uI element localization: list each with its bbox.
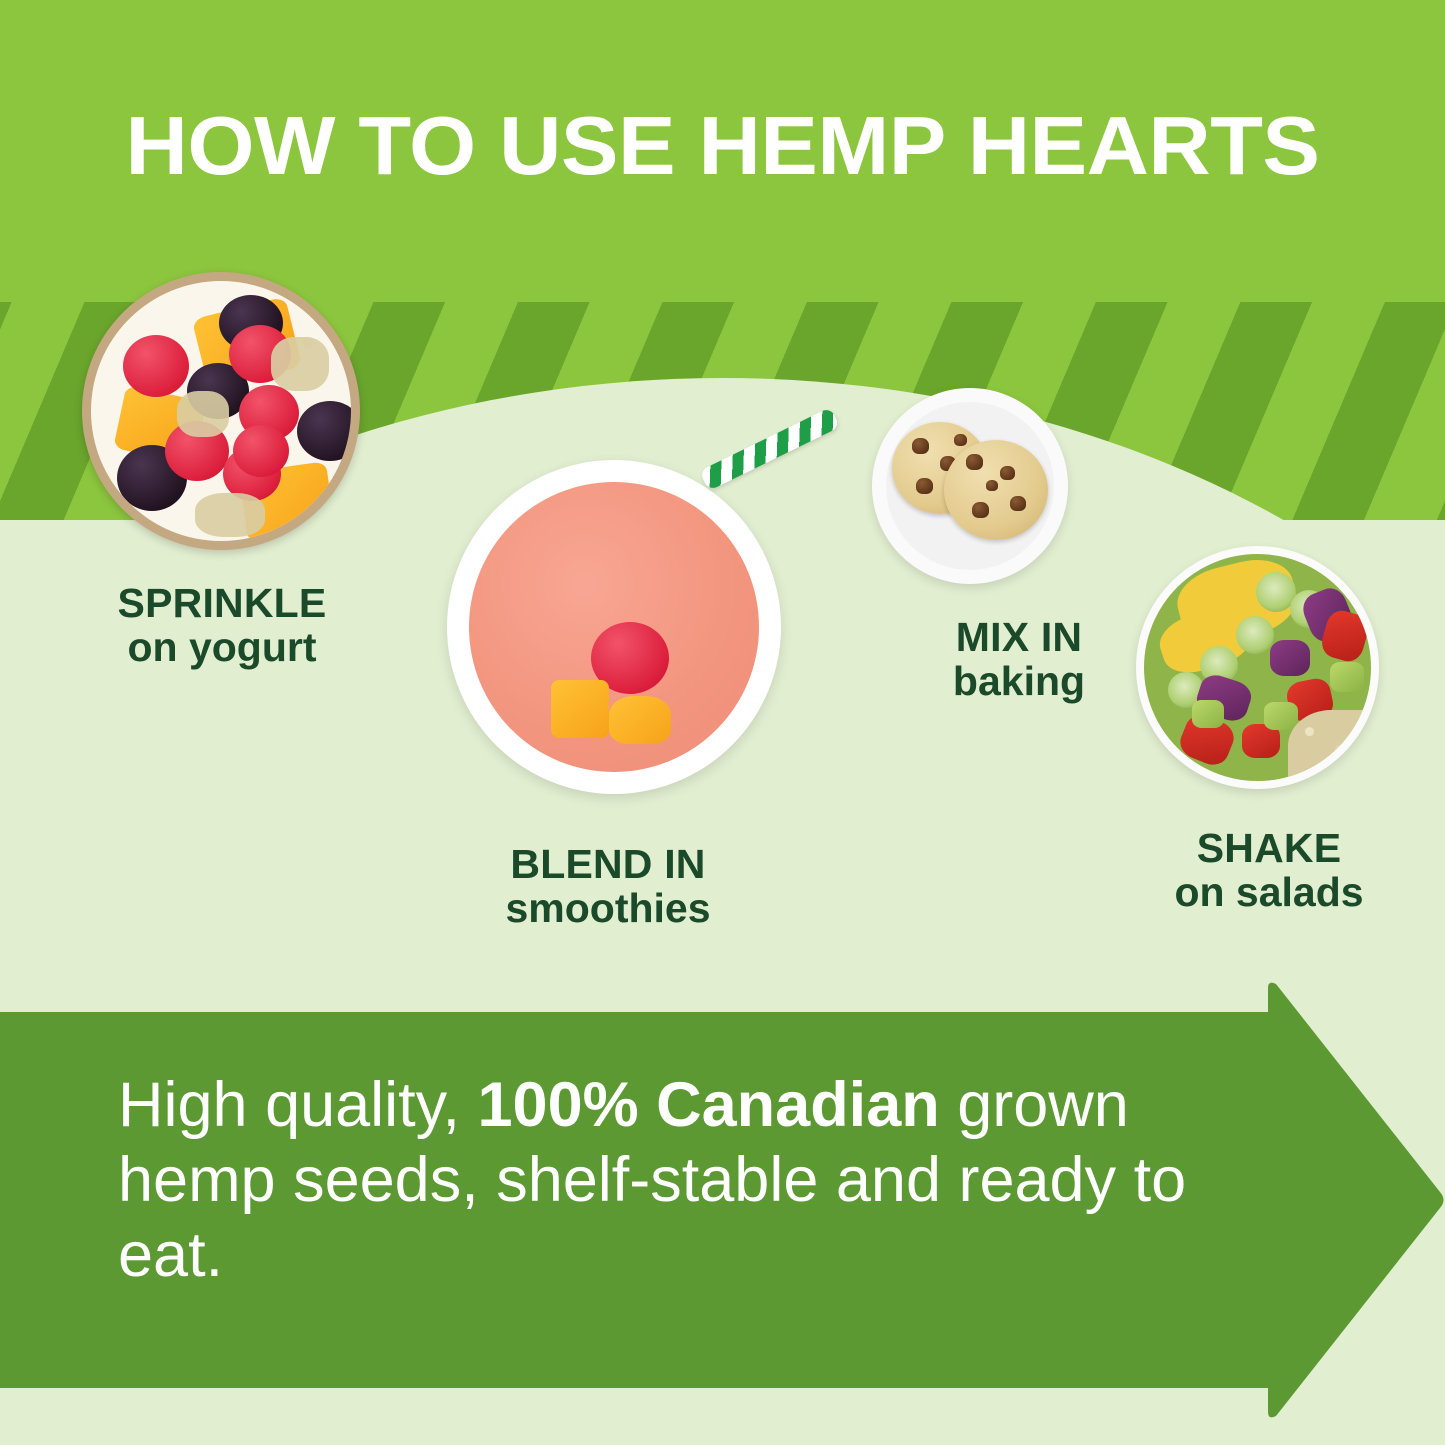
cookie-plate-photo [872,388,1068,584]
caption-mix-target: baking [858,660,1180,704]
caption-blend: BLEND IN smoothies [398,843,818,931]
caption-sprinkle: SPRINKLE on yogurt [38,582,406,670]
banner-text: High quality, 100% Canadian grown hemp s… [118,1068,1233,1293]
yogurt-bowl-photo [82,272,360,550]
caption-shake: SHAKE on salads [1105,827,1433,915]
page-title: HOW TO USE HEMP HEARTS [0,98,1445,194]
banner-emphasis: 100% Canadian [478,1070,940,1140]
banner-prefix: High quality, [118,1070,478,1140]
caption-mix: MIX IN baking [858,616,1180,704]
smoothie-bowl-photo [447,460,781,794]
caption-sprinkle-action: SPRINKLE [38,582,406,626]
caption-blend-action: BLEND IN [398,843,818,887]
caption-sprinkle-target: on yogurt [38,626,406,670]
caption-blend-target: smoothies [398,887,818,931]
caption-shake-action: SHAKE [1105,827,1433,871]
infographic-canvas: HOW TO USE HEMP HEARTS [0,0,1445,1445]
caption-shake-target: on salads [1105,871,1433,915]
caption-mix-action: MIX IN [858,616,1180,660]
